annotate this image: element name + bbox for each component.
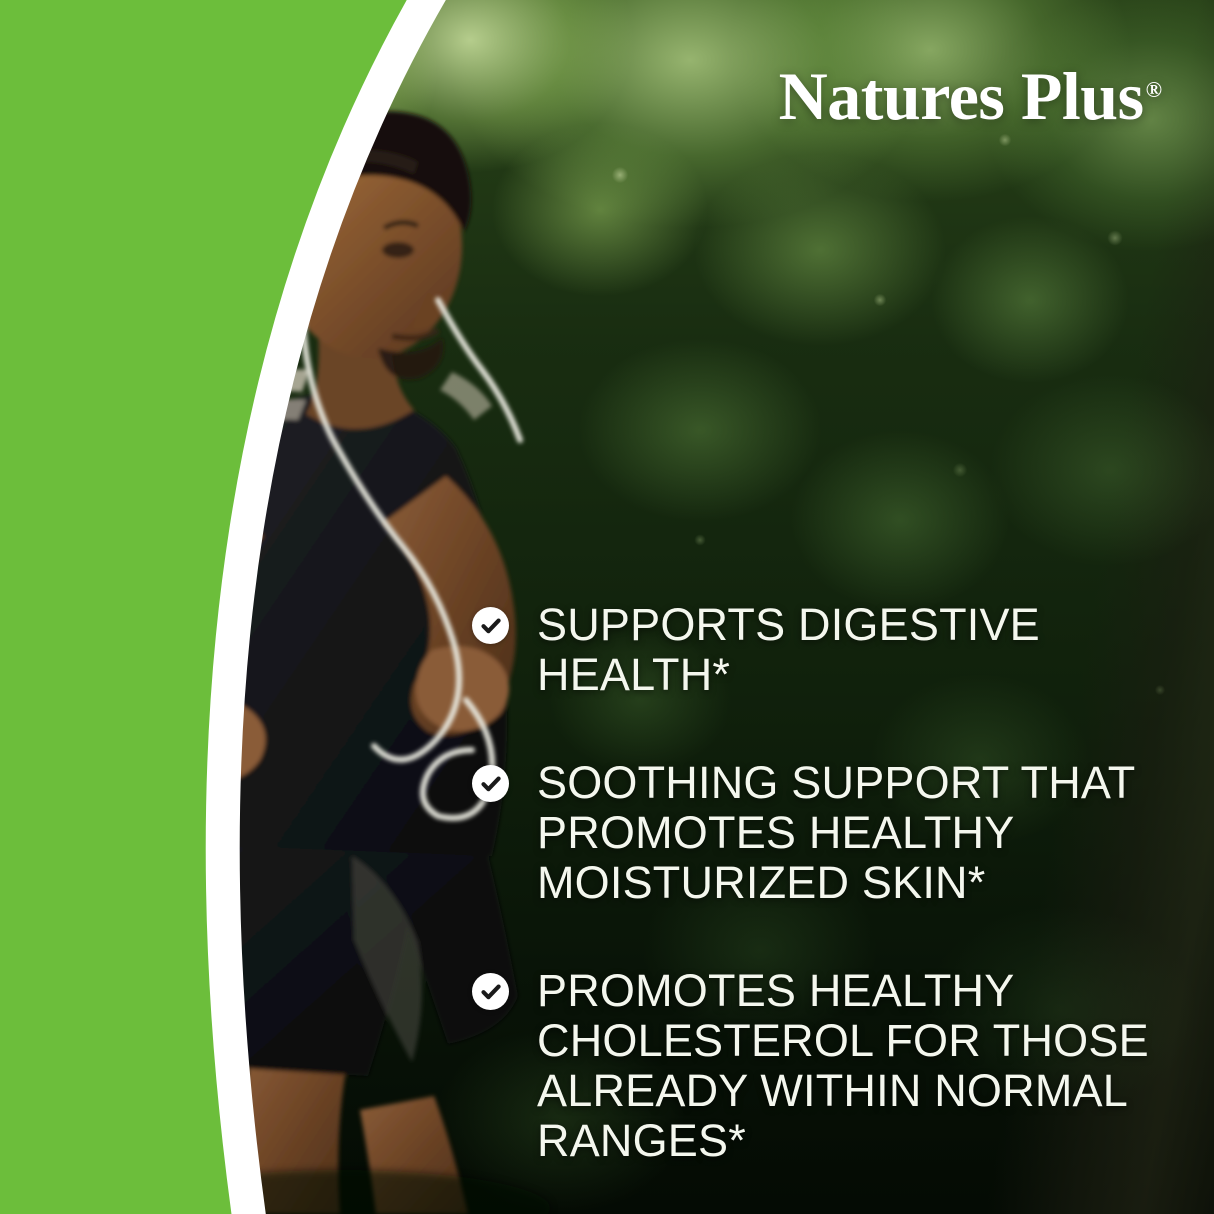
registered-trademark-icon: ®: [1146, 77, 1162, 102]
benefits-list: SUPPORTS DIGESTIVE HEALTH* SOOTHING SUPP…: [472, 600, 1172, 1166]
benefit-text: SOOTHING SUPPORT THAT PROMOTES HEALTHY M…: [537, 758, 1135, 908]
benefit-text: PROMOTES HEALTHY CHOLESTEROL FOR THOSE A…: [537, 966, 1149, 1166]
benefit-text: SUPPORTS DIGESTIVE HEALTH*: [537, 600, 1172, 700]
check-circle-icon: [472, 607, 509, 644]
benefit-item-digestive-health: SUPPORTS DIGESTIVE HEALTH*: [472, 600, 1172, 700]
benefit-item-moisturized-skin: SOOTHING SUPPORT THAT PROMOTES HEALTHY M…: [472, 758, 1172, 908]
brand-logo-text: Natures Plus: [779, 58, 1144, 134]
check-circle-icon: [472, 765, 509, 802]
product-benefits-banner: Natures Plus® SUPPORTS DIGESTIVE HEALTH*…: [0, 0, 1214, 1214]
brand-logo: Natures Plus®: [779, 62, 1162, 130]
benefit-item-healthy-cholesterol: PROMOTES HEALTHY CHOLESTEROL FOR THOSE A…: [472, 966, 1172, 1166]
check-circle-icon: [472, 973, 509, 1010]
